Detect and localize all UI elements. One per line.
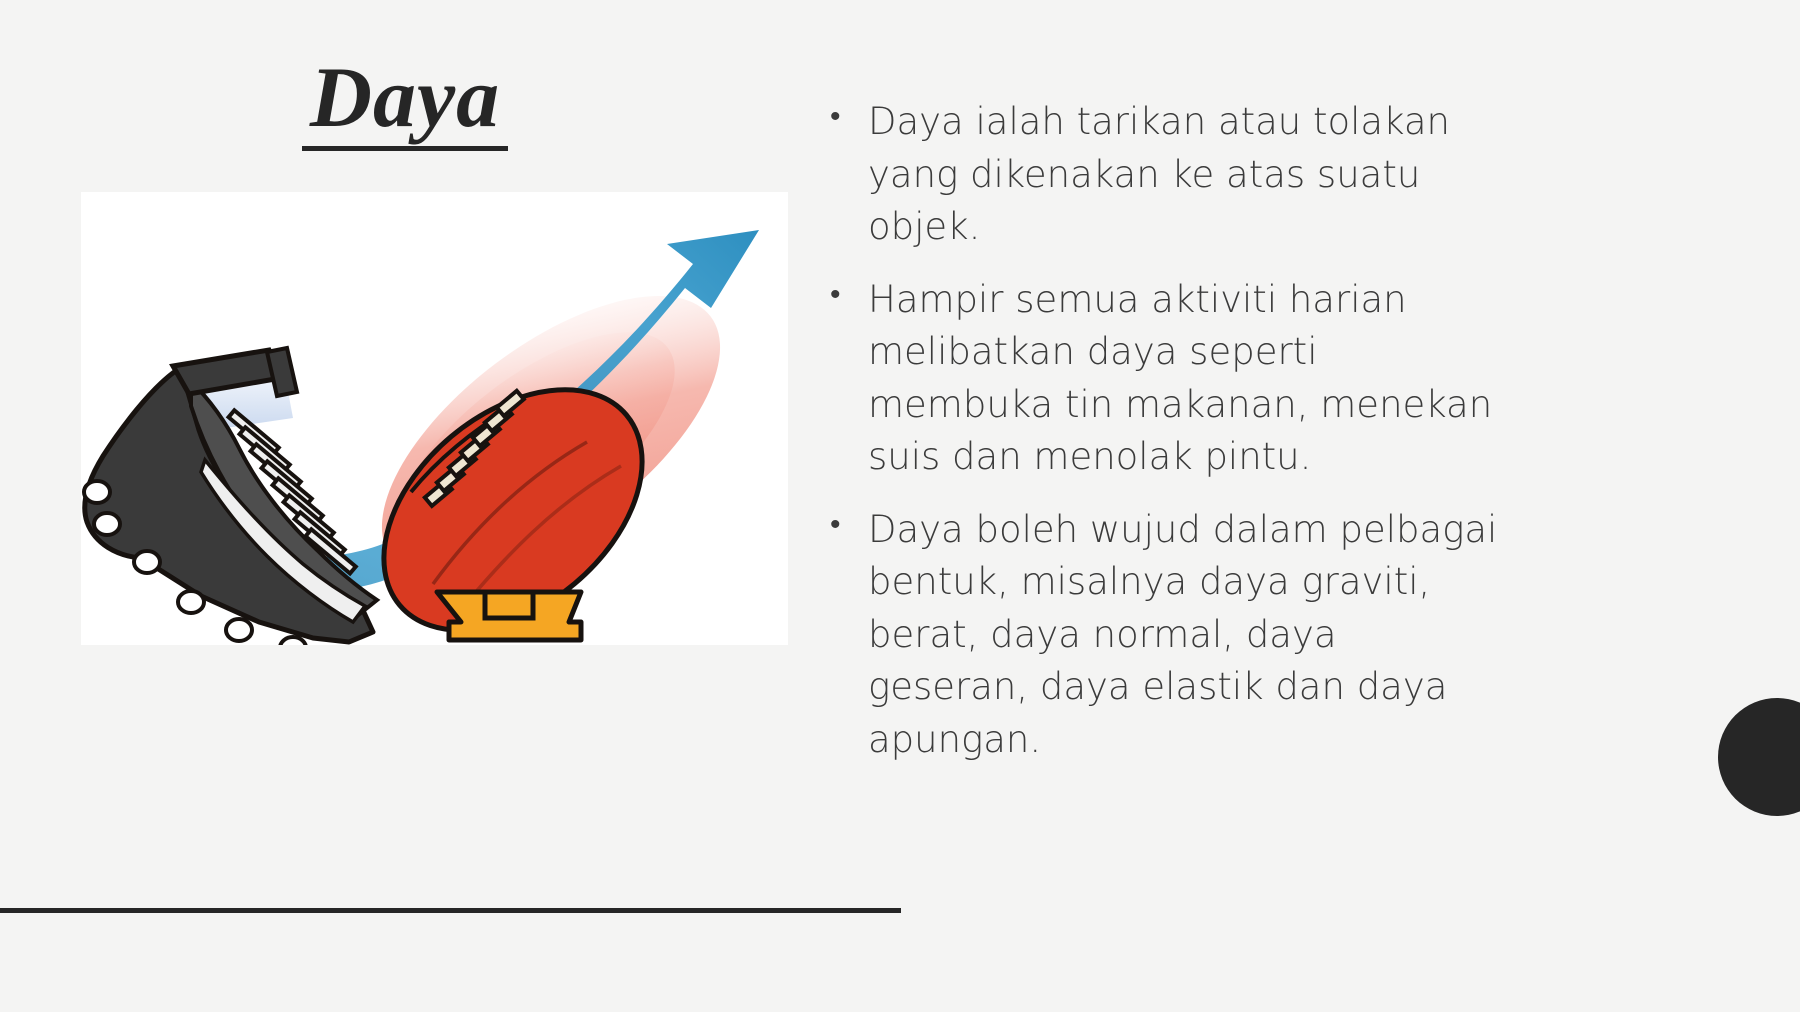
page-title-text: Daya [302,52,508,151]
list-item-text: Daya boleh wujud dalam pelbagai bentuk, … [868,504,1500,767]
page-title: Daya [0,52,810,151]
list-item-text: Daya ialah tarikan atau tolakan yang dik… [868,96,1500,254]
bullet-glyph: • [820,274,868,317]
list-item: • Hampir semua aktiviti harian melibatka… [820,274,1500,484]
list-item: • Daya ialah tarikan atau tolakan yang d… [820,96,1500,254]
illustration-svg [81,192,788,645]
slide-canvas: Daya [0,0,1800,1012]
footer-divider [0,908,901,913]
bullet-glyph: • [820,504,868,547]
decorative-circle [1718,698,1800,816]
list-item: • Daya boleh wujud dalam pelbagai bentuk… [820,504,1500,767]
kicking-tee [437,592,581,640]
list-item-text: Hampir semua aktiviti harian melibatkan … [868,274,1500,484]
illustration-kick-football [81,192,788,645]
body-bullet-list: • Daya ialah tarikan atau tolakan yang d… [820,96,1500,786]
bullet-glyph: • [820,96,868,139]
